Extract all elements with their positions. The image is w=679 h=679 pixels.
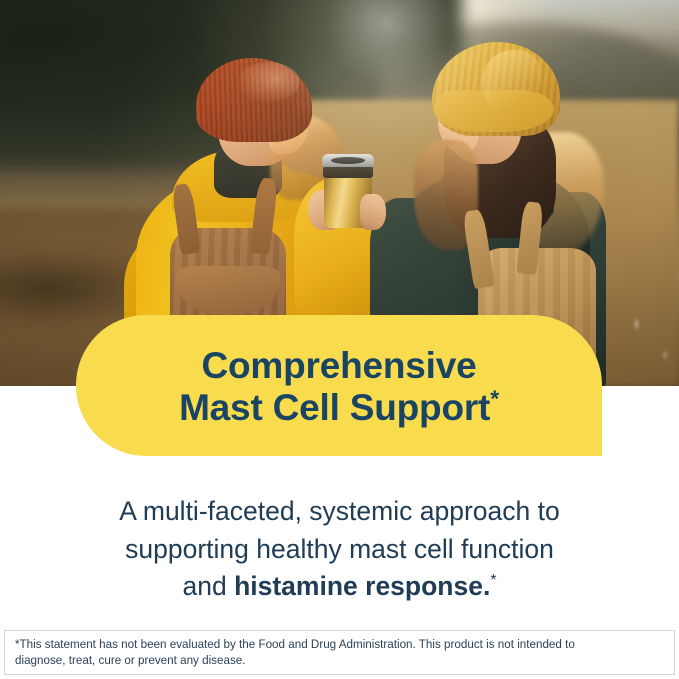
thermos-band [323,166,373,178]
subtitle-line-3: and histamine response.* [40,568,639,606]
left-hiker-beanie-highlight [238,62,300,102]
product-marketing-image: Comprehensive Mast Cell Support* A multi… [0,0,679,679]
subtitle-line-3-emphasis: histamine response. [234,571,490,601]
subtitle-asterisk: * [490,572,496,589]
subtitle-line-3-plain: and [182,571,234,601]
disclaimer-text: *This statement has not been evaluated b… [15,636,625,669]
headline-banner: Comprehensive Mast Cell Support* [76,315,602,456]
thermos-cup [322,154,374,228]
subtitle-line-2: supporting healthy mast cell function [40,531,639,569]
headline-line-1: Comprehensive [202,345,477,387]
disclaimer-box: *This statement has not been evaluated b… [4,630,675,675]
headline-asterisk: * [490,385,499,411]
subtitle-block: A multi-faceted, systemic approach to su… [40,493,639,606]
thermos-opening [331,157,365,164]
headline-line-2-text: Mast Cell Support [179,387,490,428]
second-hand-near-thermos [360,194,386,230]
subtitle-line-1: A multi-faceted, systemic approach to [40,493,639,531]
right-hiker-beanie-fold [482,50,542,116]
headline-line-2: Mast Cell Support* [179,387,499,429]
